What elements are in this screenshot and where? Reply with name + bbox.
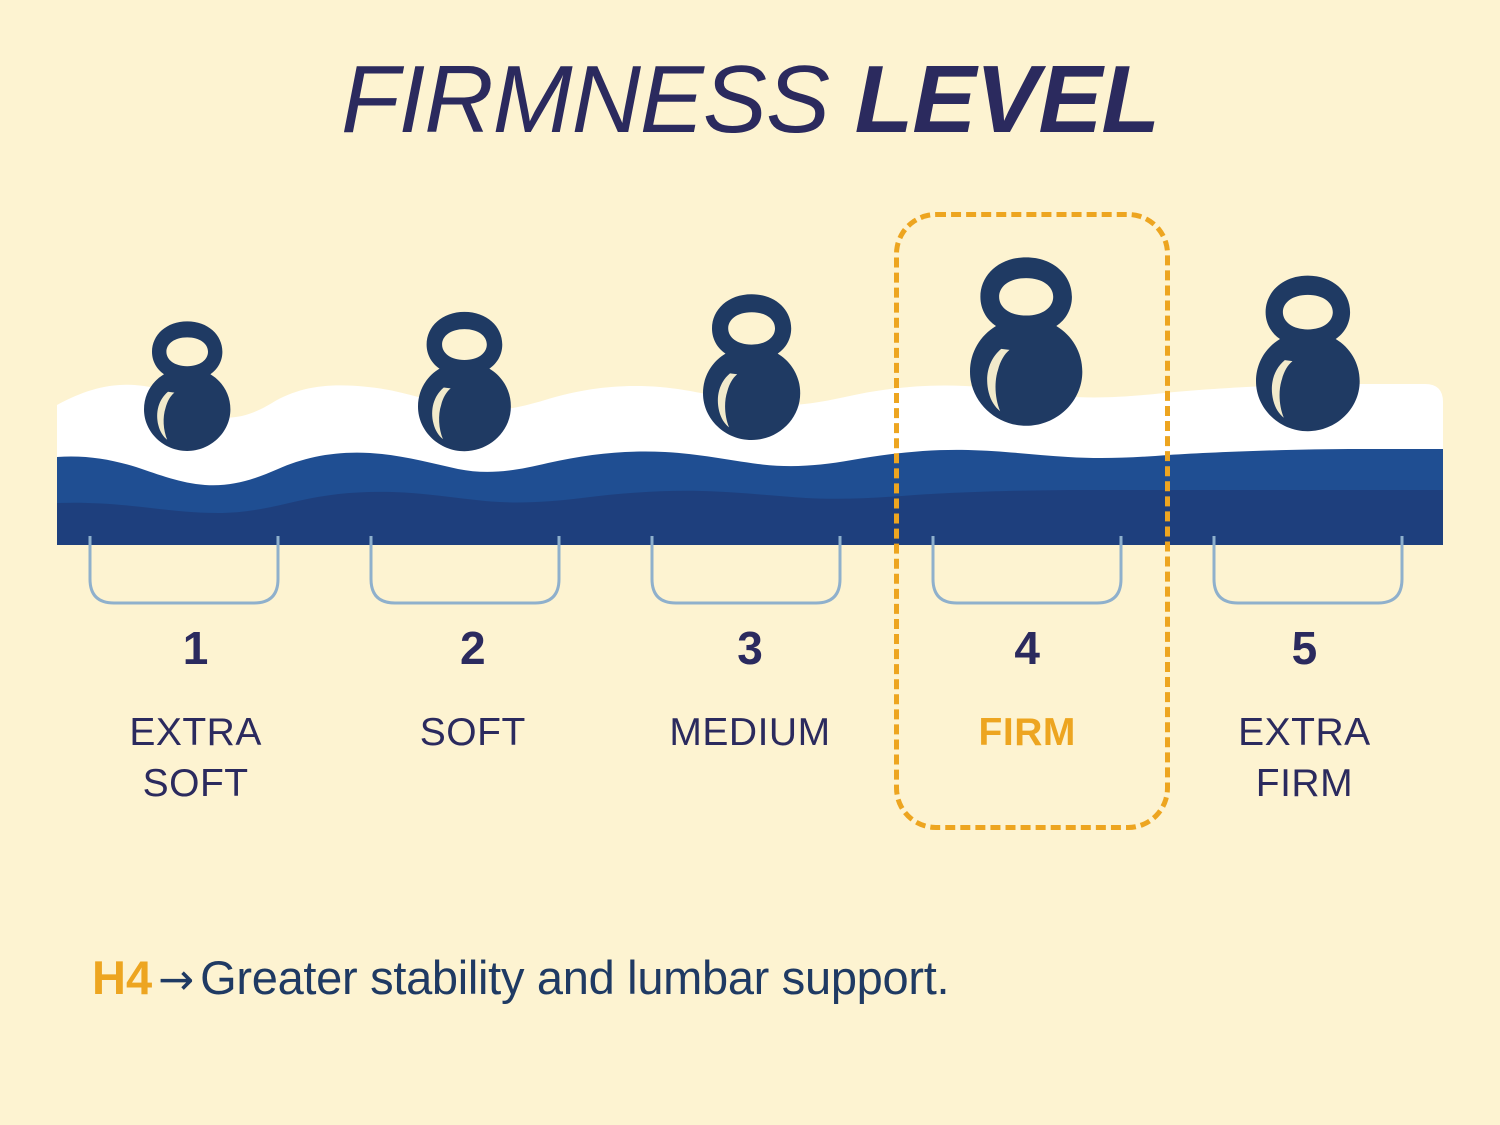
level-column-1[interactable]: 1 EXTRA SOFT xyxy=(57,625,334,825)
footnote-text: Greater stability and lumbar support. xyxy=(200,951,949,1004)
arrow-right-icon: → xyxy=(152,955,200,1005)
level-bracket-5 xyxy=(1214,536,1402,603)
kettlebell-icon-level-1 xyxy=(144,321,230,451)
level-name-5: EXTRA FIRM xyxy=(1166,707,1443,810)
kettlebell-icon-level-5 xyxy=(1256,276,1360,432)
level-number-5: 5 xyxy=(1166,625,1443,671)
level-column-4[interactable]: 4 FIRM xyxy=(889,625,1166,825)
level-name-3-line1: MEDIUM xyxy=(611,707,888,758)
footnote-code: H4 xyxy=(92,951,152,1004)
level-name-4: FIRM xyxy=(889,707,1166,758)
level-name-5-line1: EXTRA xyxy=(1166,707,1443,758)
kettlebell-icon-level-2 xyxy=(418,312,511,451)
level-bracket-1 xyxy=(90,536,278,603)
level-name-4-line1: FIRM xyxy=(889,707,1166,758)
level-name-2-line1: SOFT xyxy=(334,707,611,758)
level-name-2: SOFT xyxy=(334,707,611,758)
level-column-2[interactable]: 2 SOFT xyxy=(334,625,611,825)
level-column-3[interactable]: 3 MEDIUM xyxy=(611,625,888,825)
level-bracket-3 xyxy=(652,536,840,603)
page-title: FIRMNESS LEVEL xyxy=(0,52,1500,148)
level-name-1-line1: EXTRA xyxy=(57,707,334,758)
level-name-1-line2: SOFT xyxy=(57,758,334,809)
level-name-5-line2: FIRM xyxy=(1166,758,1443,809)
level-number-1: 1 xyxy=(57,625,334,671)
firmness-level-labels: 1 EXTRA SOFT 2 SOFT 3 MEDIUM 4 FIRM 5 xyxy=(57,625,1443,825)
level-name-3: MEDIUM xyxy=(611,707,888,758)
level-number-4: 4 xyxy=(889,625,1166,671)
level-name-1: EXTRA SOFT xyxy=(57,707,334,810)
level-number-3: 3 xyxy=(611,625,888,671)
level-number-2: 2 xyxy=(334,625,611,671)
mattress-illustration xyxy=(0,255,1500,615)
infographic-canvas: FIRMNESS LEVEL xyxy=(0,0,1500,1125)
title-word-firmness: FIRMNESS xyxy=(341,46,829,153)
level-column-5[interactable]: 5 EXTRA FIRM xyxy=(1166,625,1443,825)
kettlebell-icon-level-3 xyxy=(703,294,800,440)
footnote: H4→Greater stability and lumbar support. xyxy=(92,950,949,1005)
title-word-level: LEVEL xyxy=(829,46,1159,153)
level-brackets xyxy=(90,536,1402,603)
level-bracket-2 xyxy=(371,536,559,603)
